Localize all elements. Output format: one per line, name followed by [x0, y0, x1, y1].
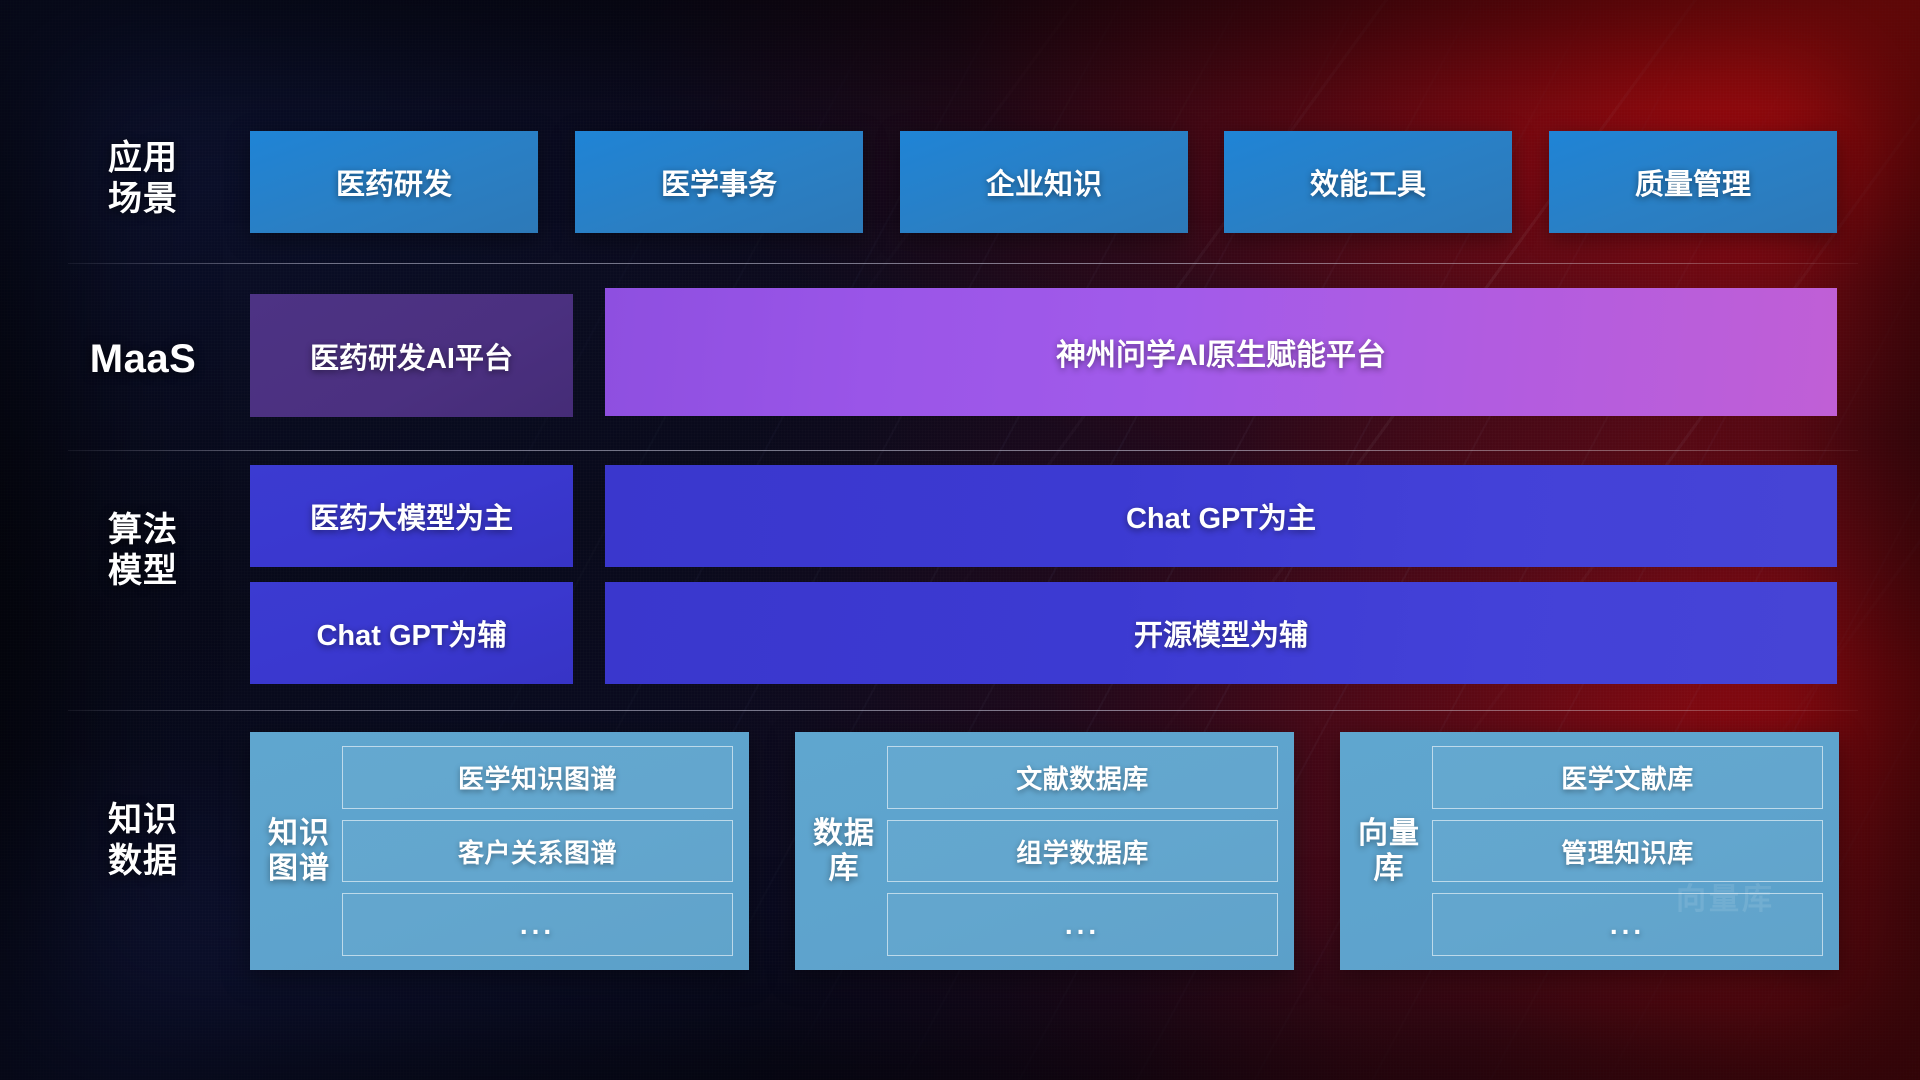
knowledge-group-label-knowledge-graph: 知识图谱: [268, 816, 330, 887]
knowledge-group-items: 文献数据库 组学数据库 ...: [887, 746, 1278, 956]
database-item-omics[interactable]: 组学数据库: [887, 820, 1278, 883]
row-label-algorithm-model: 算法 模型: [68, 510, 218, 593]
vector-item-medical-literature[interactable]: 医学文献库: [1432, 746, 1823, 809]
divider-application-maas: [68, 263, 1858, 264]
model-box-chatgpt-secondary[interactable]: Chat GPT为辅: [250, 582, 573, 684]
row-label-knowledge-data: 知识 数据: [68, 800, 218, 883]
model-box-opensource-secondary[interactable]: 开源模型为辅: [605, 582, 1837, 684]
knowledge-group-knowledge-graph[interactable]: 知识图谱 医学知识图谱 客户关系图谱 ...: [250, 732, 749, 970]
app-box-medicine-rd[interactable]: 医药研发: [250, 131, 538, 233]
knowledge-group-items: 医学知识图谱 客户关系图谱 ...: [342, 746, 733, 956]
knowledge-group-items: 医学文献库 管理知识库 ...: [1432, 746, 1823, 956]
knowledge-group-vector-store[interactable]: 向量库 医学文献库 管理知识库 ... 向量库: [1340, 732, 1839, 970]
knowledge-item-medical-kg[interactable]: 医学知识图谱: [342, 746, 733, 809]
maas-box-shenzhou-wenxue-platform[interactable]: 神州问学AI原生赋能平台: [605, 288, 1837, 416]
knowledge-item-customer-kg[interactable]: 客户关系图谱: [342, 820, 733, 883]
knowledge-item-more[interactable]: ...: [342, 893, 733, 956]
database-item-more[interactable]: ...: [887, 893, 1278, 956]
divider-model-knowledge: [68, 710, 1858, 711]
row-label-maas: MaaS: [68, 335, 218, 384]
model-box-chatgpt-primary[interactable]: Chat GPT为主: [605, 465, 1837, 567]
database-item-literature[interactable]: 文献数据库: [887, 746, 1278, 809]
diagram-canvas: 应用 场景 医药研发 医学事务 企业知识 效能工具 质量管理 MaaS 医药研发…: [0, 0, 1920, 1080]
knowledge-group-label-vector-store: 向量库: [1358, 816, 1420, 887]
divider-maas-model: [68, 450, 1858, 451]
maas-box-pharma-ai-platform[interactable]: 医药研发AI平台: [250, 294, 573, 417]
row-label-application: 应用 场景: [68, 138, 218, 221]
vector-item-management-kb[interactable]: 管理知识库: [1432, 820, 1823, 883]
model-box-pharma-llm-primary[interactable]: 医药大模型为主: [250, 465, 573, 567]
vector-item-more[interactable]: ...: [1432, 893, 1823, 956]
knowledge-group-label-database: 数据库: [813, 816, 875, 887]
app-box-efficiency-tools[interactable]: 效能工具: [1224, 131, 1512, 233]
knowledge-group-database[interactable]: 数据库 文献数据库 组学数据库 ...: [795, 732, 1294, 970]
app-box-medical-affairs[interactable]: 医学事务: [575, 131, 863, 233]
app-box-enterprise-knowledge[interactable]: 企业知识: [900, 131, 1188, 233]
app-box-quality-management[interactable]: 质量管理: [1549, 131, 1837, 233]
